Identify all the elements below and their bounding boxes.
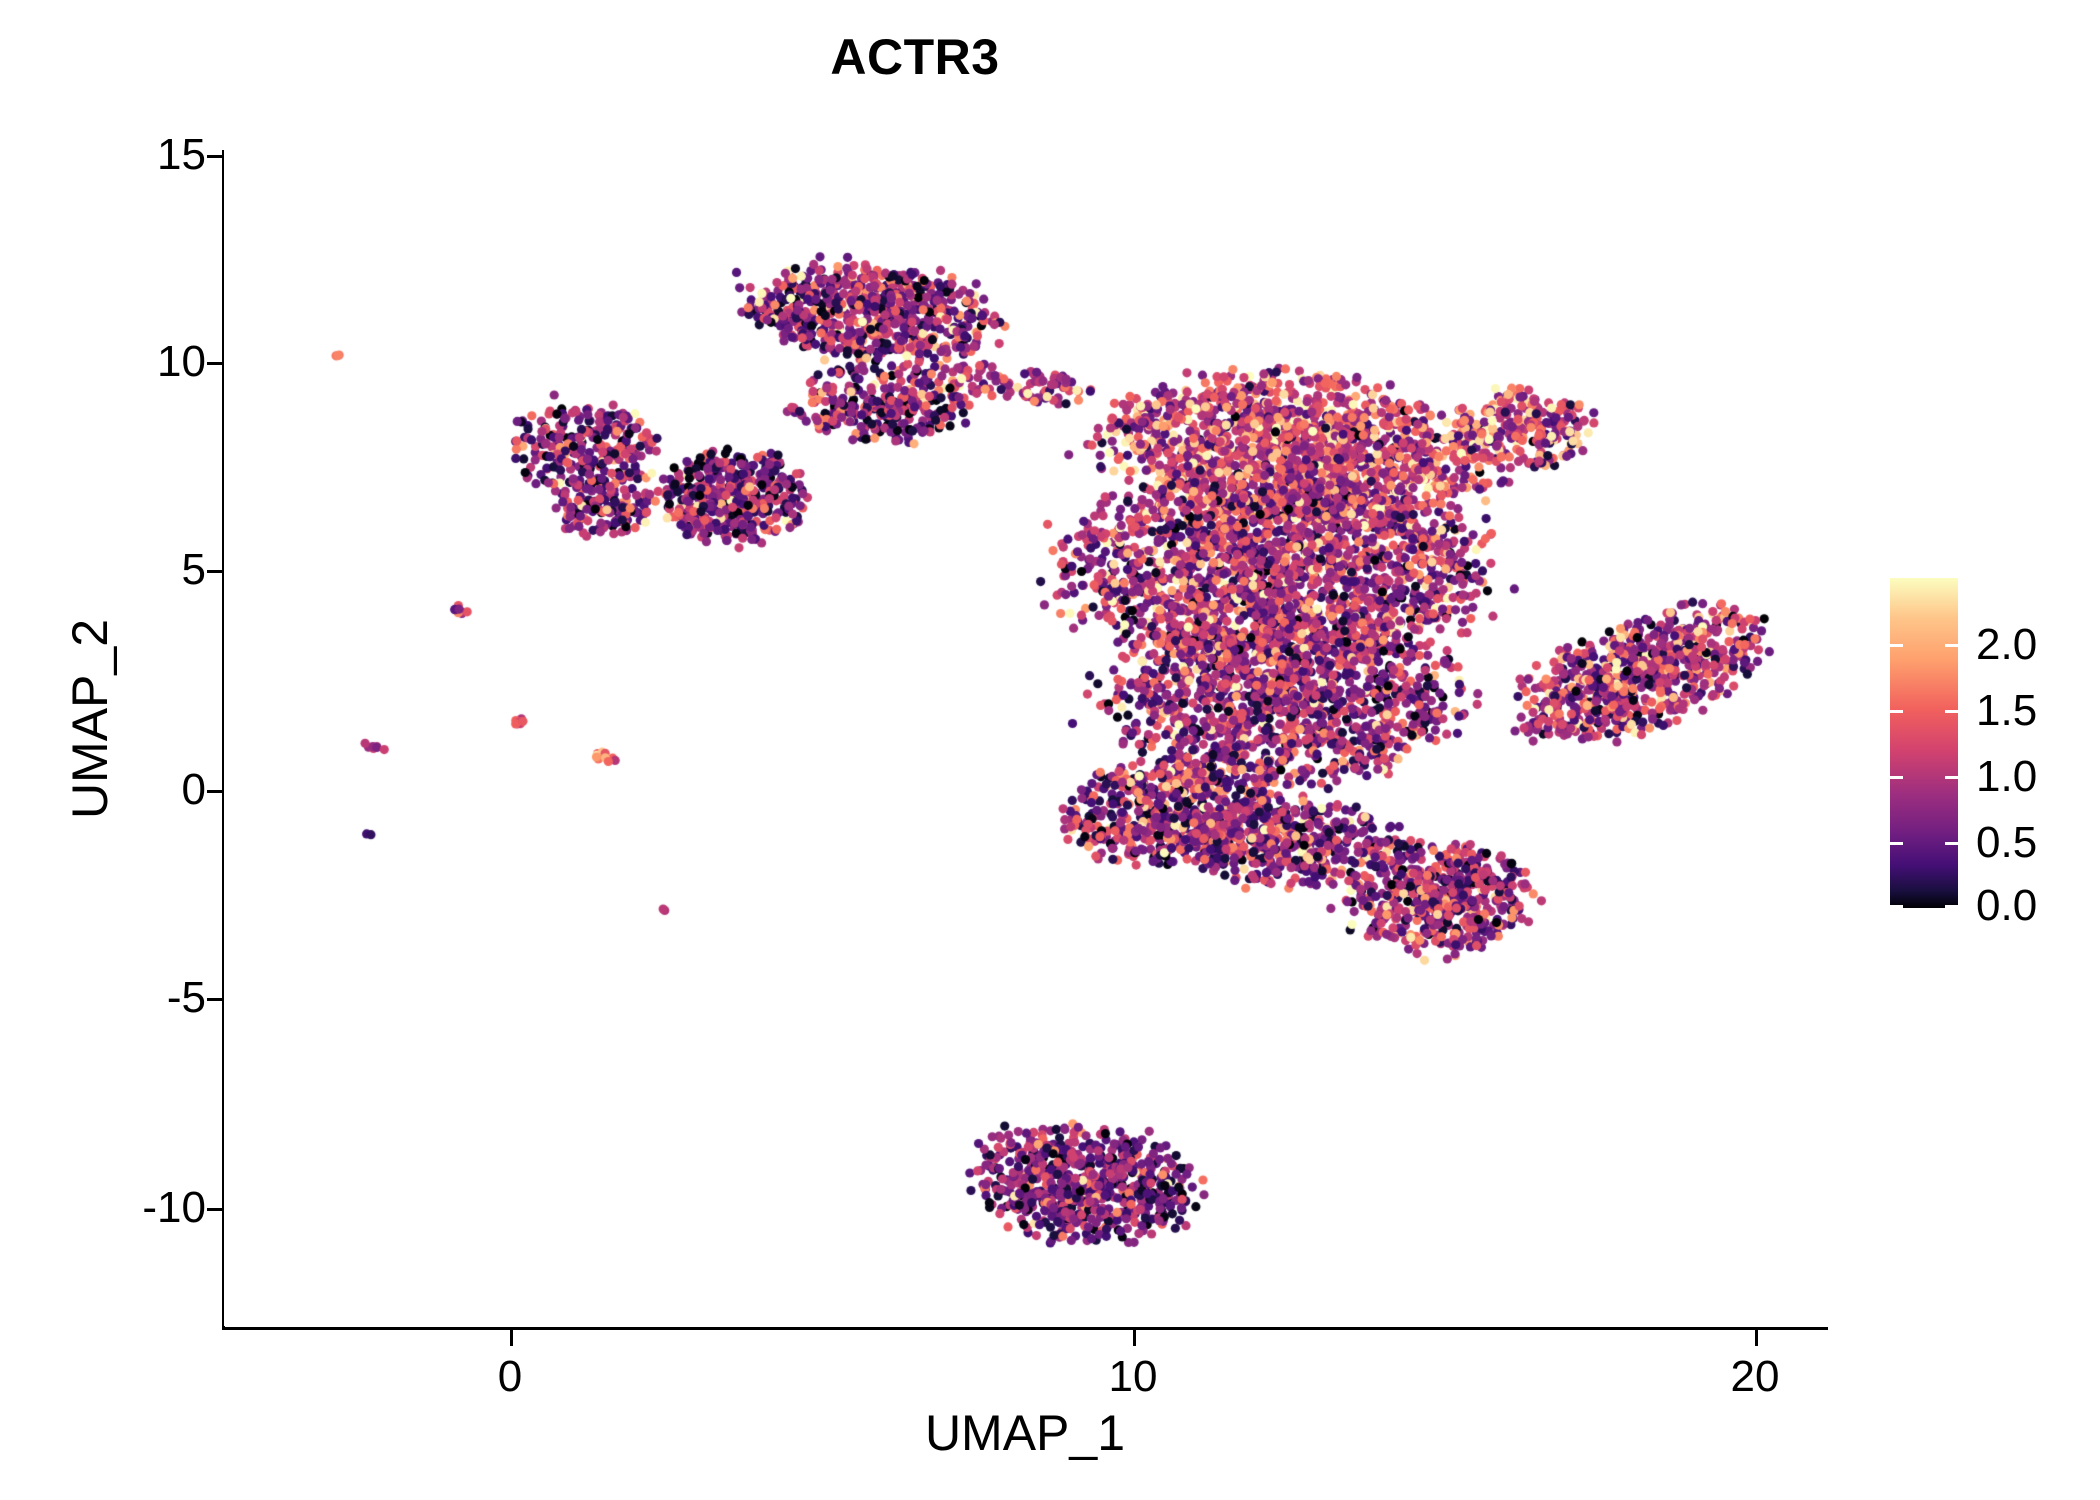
y-tick-mark (207, 155, 223, 158)
colorbar-tick (1890, 905, 1903, 908)
x-tick-label: 20 (1731, 1352, 1780, 1402)
x-tick-mark (1755, 1330, 1758, 1346)
colorbar-tick (1945, 776, 1958, 779)
colorbar-tick (1945, 710, 1958, 713)
colorbar-tick (1890, 710, 1903, 713)
y-tick-label: -10 (142, 1183, 206, 1233)
umap-feature-plot: ACTR3 15 10 5 0 -5 -10 0 10 20 UMAP_1 UM… (0, 0, 2100, 1500)
x-axis-line (222, 1327, 1828, 1330)
colorbar-legend: 2.0 1.5 1.0 0.5 0.0 (1890, 578, 2090, 918)
page-title: ACTR3 (0, 28, 1830, 86)
colorbar-tick (1890, 644, 1903, 647)
x-tick-mark (1133, 1330, 1136, 1346)
x-tick-label: 10 (1109, 1352, 1158, 1402)
colorbar-gradient (1890, 578, 1958, 908)
colorbar-tick (1890, 842, 1903, 845)
colorbar-tick-label: 0.5 (1976, 818, 2037, 868)
colorbar-tick-label: 0.0 (1976, 881, 2037, 931)
y-tick-mark (207, 1208, 223, 1211)
colorbar-tick-label: 1.0 (1976, 752, 2037, 802)
scatter-points-canvas (224, 150, 1828, 1326)
y-tick-mark (207, 998, 223, 1001)
x-tick-label: 0 (498, 1352, 522, 1402)
colorbar-tick-label: 1.5 (1976, 686, 2037, 736)
x-tick-mark (510, 1330, 513, 1346)
y-tick-label: 5 (182, 545, 206, 595)
x-axis-label: UMAP_1 (222, 1404, 1828, 1462)
y-tick-label: -5 (167, 973, 206, 1023)
colorbar-tick-label: 2.0 (1976, 620, 2037, 670)
colorbar-tick (1945, 842, 1958, 845)
y-tick-label: 10 (157, 337, 206, 387)
colorbar-tick (1945, 644, 1958, 647)
y-axis-label: UMAP_2 (61, 319, 119, 1119)
y-tick-mark (207, 362, 223, 365)
plot-panel (224, 150, 1828, 1326)
y-tick-label: 0 (182, 765, 206, 815)
colorbar-tick (1890, 776, 1903, 779)
y-tick-mark (207, 790, 223, 793)
y-tick-mark (207, 570, 223, 573)
y-tick-label: 15 (157, 130, 206, 180)
colorbar-tick (1945, 905, 1958, 908)
